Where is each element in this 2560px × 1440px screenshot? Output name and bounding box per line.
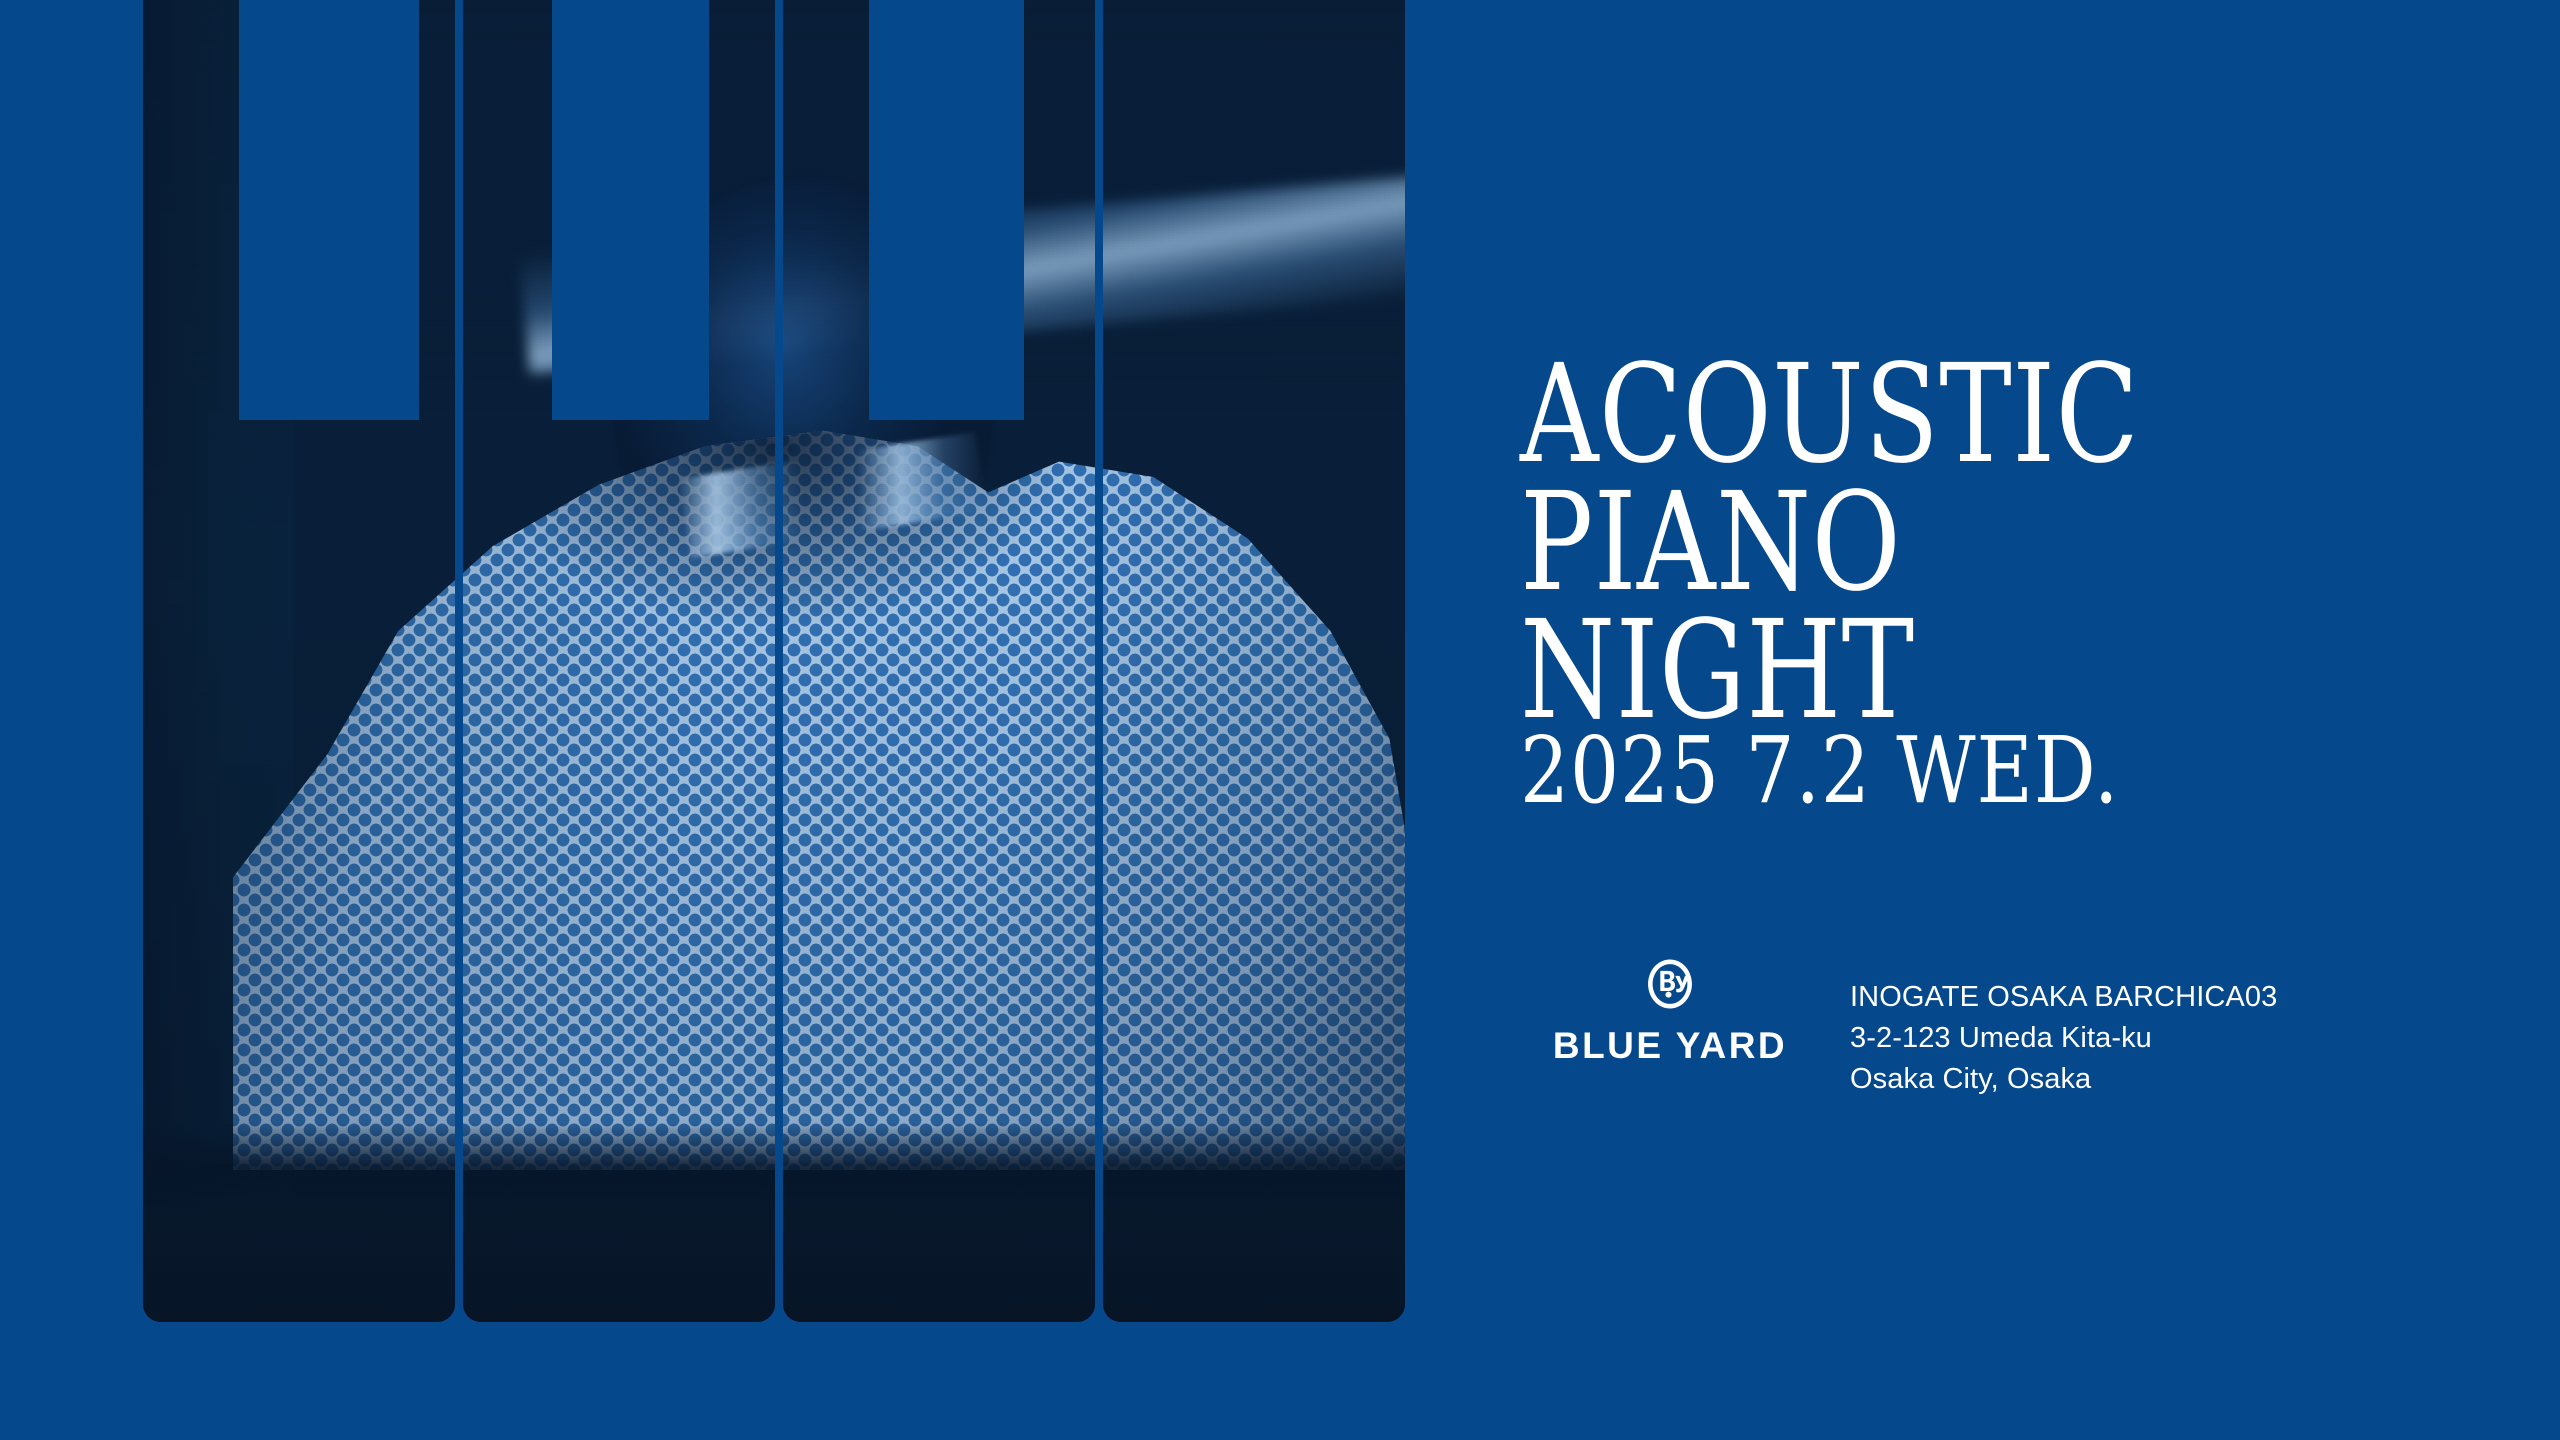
poster-footer: BLUE YARD INOGATE OSAKA BARCHICA03 3-2-1… — [1520, 955, 2277, 1101]
venue-line-3: Osaka City, Osaka — [1850, 1059, 2277, 1100]
event-poster: ACOUSTIC PIANO NIGHT 2025 7.2 WED. BLUE … — [0, 0, 2560, 1440]
key-mask-bar — [552, 0, 709, 420]
piano-key-panel — [1103, 0, 1405, 1322]
venue-line-2: 3-2-123 Umeda Kita-ku — [1850, 1018, 2277, 1059]
venue-line-1: INOGATE OSAKA BARCHICA03 — [1850, 977, 2277, 1018]
brand-name: BLUE YARD — [1553, 1025, 1787, 1067]
brand-lockup: BLUE YARD — [1520, 955, 1820, 1067]
duotone-photograph — [1103, 0, 1405, 1322]
event-date: 2025 7.2 WED. — [1520, 725, 2326, 817]
film-grain — [1103, 0, 1405, 1322]
venue-address-block: INOGATE OSAKA BARCHICA03 3-2-123 Umeda K… — [1820, 955, 2277, 1101]
key-mask-bar — [239, 0, 419, 420]
poster-content: ACOUSTIC PIANO NIGHT 2025 7.2 WED. BLUE … — [1520, 0, 2470, 1440]
page-title: ACOUSTIC PIANO NIGHT — [1520, 352, 2288, 735]
blue-yard-monogram-icon — [1643, 957, 1697, 1011]
key-mask-bar — [869, 0, 1024, 420]
